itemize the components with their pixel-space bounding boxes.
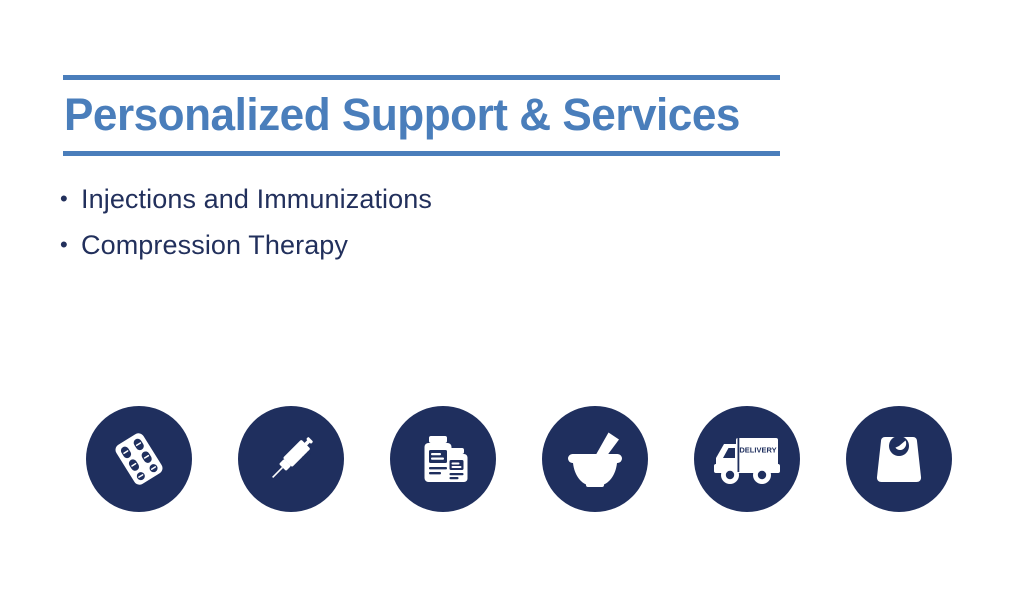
icon-row: DELIVERY <box>86 406 952 512</box>
page-title: Personalized Support & Services <box>63 80 766 151</box>
icon-badge-delivery-van: DELIVERY <box>694 406 800 512</box>
bullet-label-injections: Injections and Immunizations <box>81 180 432 218</box>
icon-badge-pill-bottles <box>390 406 496 512</box>
mortar-pestle-icon <box>562 426 628 492</box>
van-delivery-text: DELIVERY <box>739 446 776 455</box>
slide-canvas: Personalized Support & Services • Inject… <box>0 0 1025 590</box>
bullet-list: • Injections and Immunizations • Compres… <box>55 180 755 272</box>
bullet-marker: • <box>55 226 81 264</box>
list-item: • Compression Therapy <box>55 226 755 272</box>
blister-pack-icon <box>107 427 171 491</box>
icon-badge-weight-scale <box>846 406 952 512</box>
weight-scale-icon <box>867 427 931 491</box>
pill-bottles-icon <box>411 427 475 491</box>
bullet-label-compression: Compression Therapy <box>81 226 348 264</box>
icon-badge-mortar-pestle <box>542 406 648 512</box>
bullet-marker: • <box>55 180 81 218</box>
icon-badge-syringe <box>238 406 344 512</box>
delivery-van-icon: DELIVERY <box>712 428 782 490</box>
title-block: Personalized Support & Services <box>63 75 780 156</box>
list-item: • Injections and Immunizations <box>55 180 755 226</box>
icon-badge-blister-pack <box>86 406 192 512</box>
syringe-icon <box>259 427 323 491</box>
title-rule-bottom <box>63 151 780 156</box>
